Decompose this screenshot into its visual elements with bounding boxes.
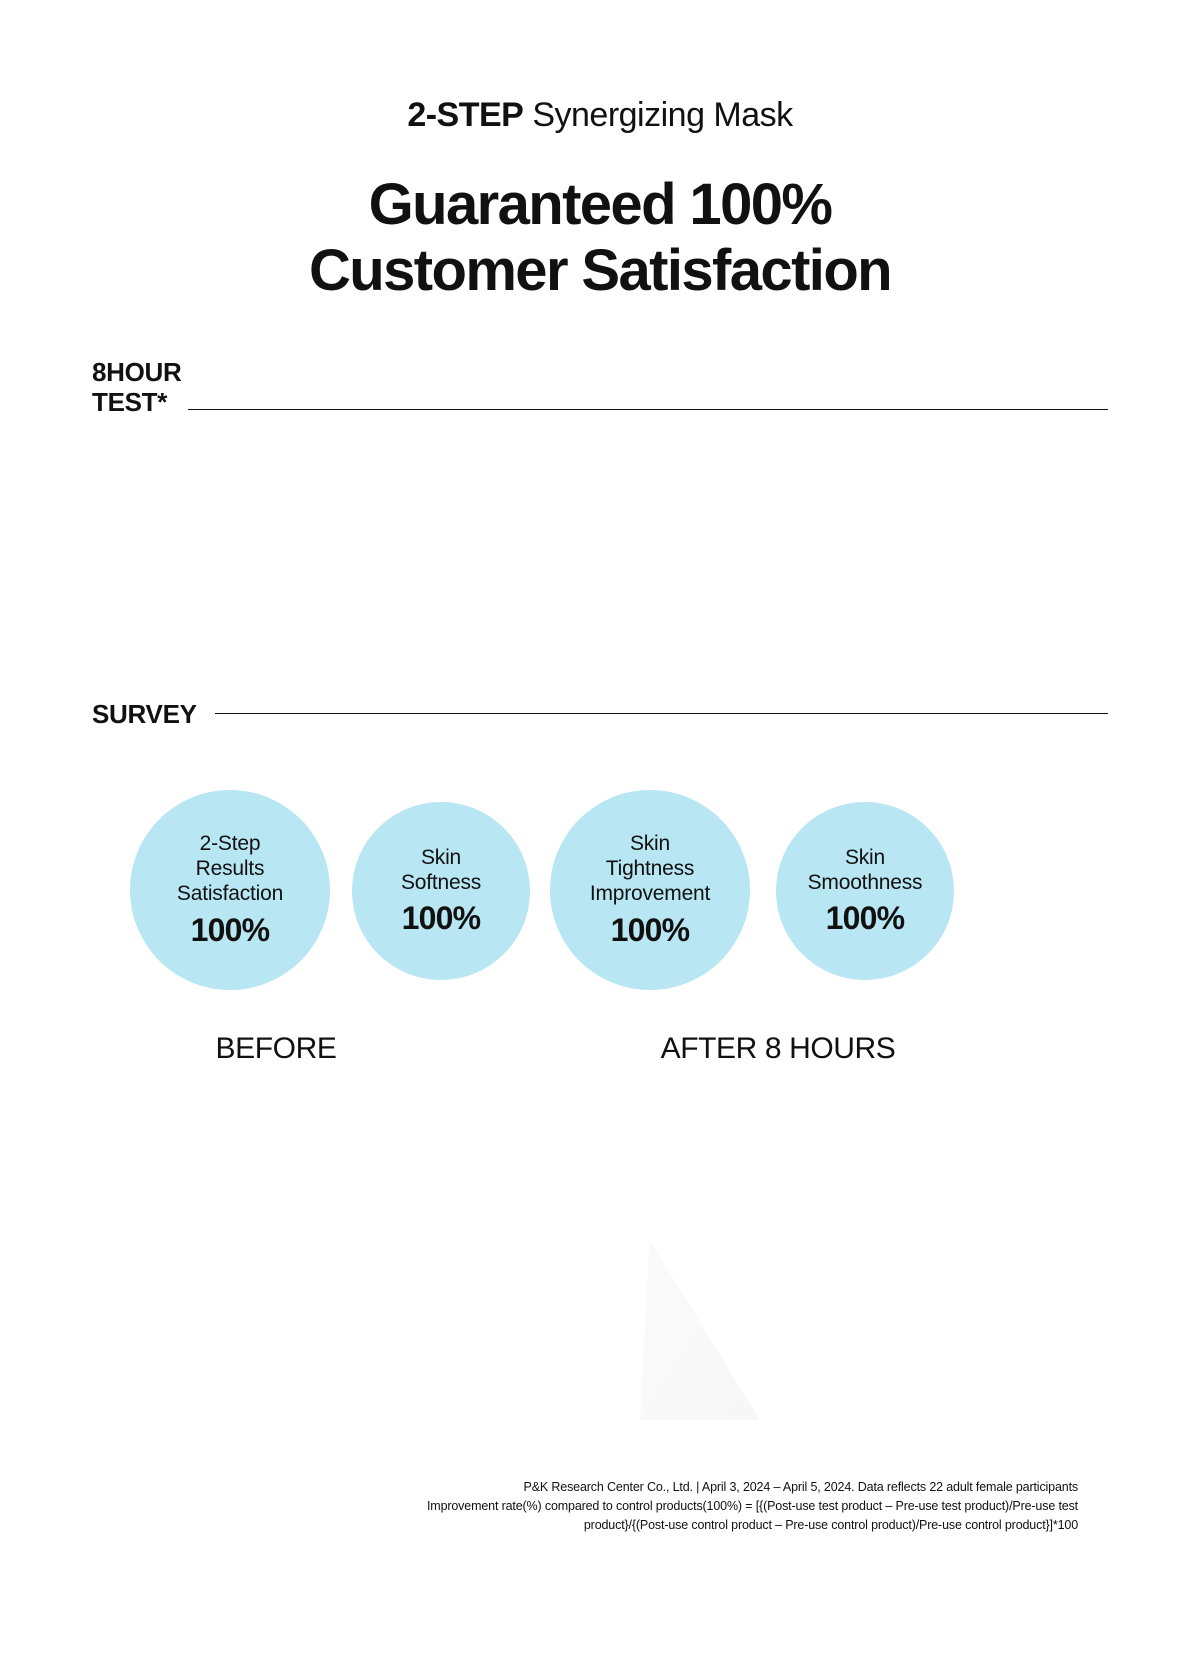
section-survey: SURVEY <box>92 700 1108 730</box>
product-eyebrow: 2-STEP Synergizing Mask <box>0 96 1200 135</box>
survey-bubble: Skin Smoothness 100% <box>776 802 954 980</box>
page-title: Guaranteed 100% Customer Satisfaction <box>0 172 1200 303</box>
footnote-line-3: product}/{(Post-use control product – Pr… <box>358 1516 1078 1535</box>
section-survey-label: SURVEY <box>92 700 215 730</box>
product-eyebrow-light: Synergizing Mask <box>523 96 792 134</box>
survey-bubble-label: 2-Step Results Satisfaction <box>177 831 283 907</box>
comparison-label-after: AFTER 8 HOURS <box>661 1032 896 1066</box>
section-divider-line <box>215 713 1108 714</box>
survey-bubble-label: Skin Smoothness <box>808 845 923 895</box>
product-eyebrow-strong: 2-STEP <box>407 96 523 134</box>
survey-bubble-value: 100% <box>611 911 690 949</box>
survey-bubbles: 2-Step Results Satisfaction 100% Skin So… <box>130 782 1070 982</box>
survey-bubble-value: 100% <box>826 899 905 937</box>
survey-bubble: Skin Softness 100% <box>352 802 530 980</box>
survey-bubble-value: 100% <box>402 899 481 937</box>
footnote-line-2: Improvement rate(%) compared to control … <box>358 1497 1078 1516</box>
comparison-label-before: BEFORE <box>216 1032 337 1066</box>
comparison-labels: BEFORE AFTER 8 HOURS <box>130 1032 1070 1072</box>
footnote-line-1: P&K Research Center Co., Ltd. | April 3,… <box>358 1478 1078 1497</box>
section-divider-line <box>188 409 1108 410</box>
survey-bubble-label: Skin Tightness Improvement <box>590 831 710 907</box>
section-8hour-test-label: 8HOUR TEST* <box>92 358 188 418</box>
section-8hour-test: 8HOUR TEST* <box>92 358 1108 418</box>
footnote: P&K Research Center Co., Ltd. | April 3,… <box>358 1478 1078 1534</box>
survey-bubble: Skin Tightness Improvement 100% <box>550 790 750 990</box>
survey-bubble-label: Skin Softness <box>401 845 481 895</box>
decorative-watermark-shape <box>640 1240 760 1420</box>
survey-bubble: 2-Step Results Satisfaction 100% <box>130 790 330 990</box>
survey-bubble-value: 100% <box>191 911 270 949</box>
